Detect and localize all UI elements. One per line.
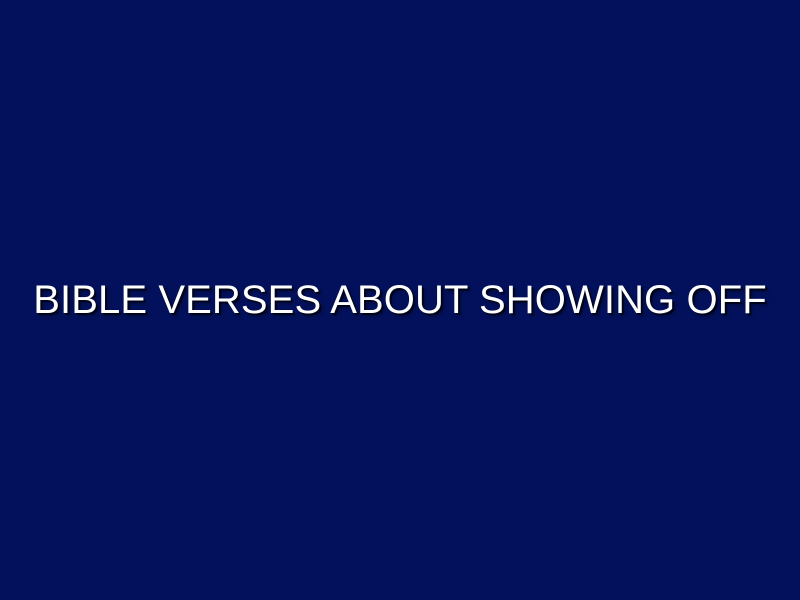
page-title: BIBLE VERSES ABOUT SHOWING OFF (9, 278, 791, 323)
title-card: BIBLE VERSES ABOUT SHOWING OFF (0, 0, 800, 600)
